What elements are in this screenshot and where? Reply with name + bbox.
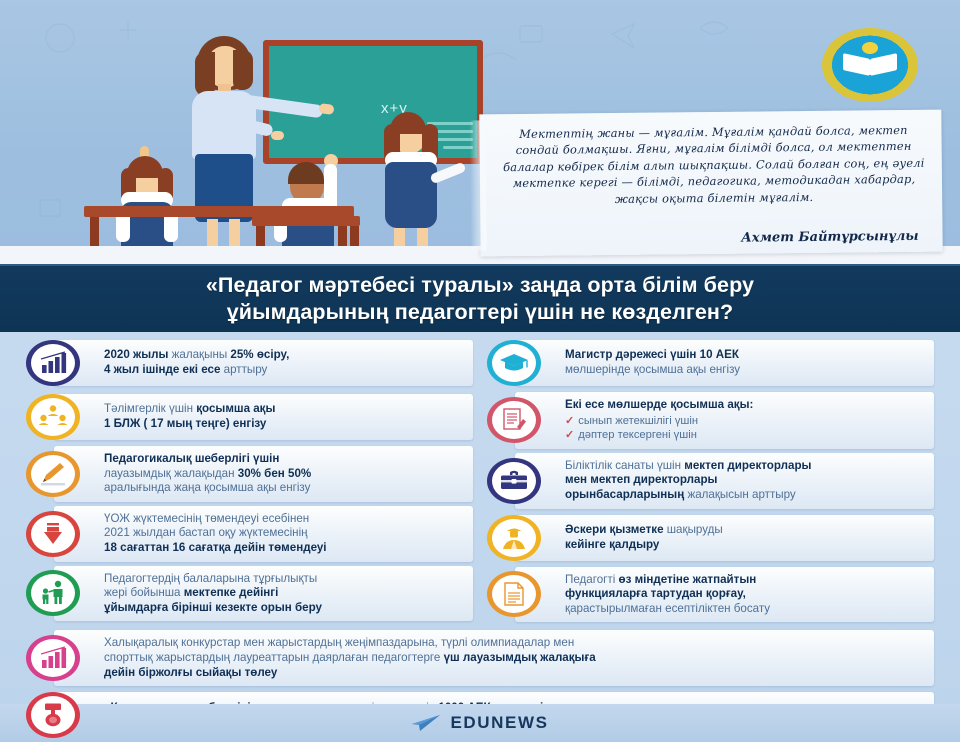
quote-author: Ахмет Байтұрсынұлы <box>741 229 918 246</box>
card-text-strong: 18 сағаттан 16 сағатқа дейін төмендеуі <box>104 541 327 554</box>
quote-text: Мектептің жаны — мұғалім. Мұғалім қандай… <box>501 122 926 208</box>
benefits-content: 2020 жылы жалақыны 25% өсіру,4 жыл ішінд… <box>0 332 960 704</box>
card-text-strong: кейінге қалдыру <box>565 538 659 551</box>
benefit-text-line: лауазымдық жалақыдан 30% бен 50% <box>104 467 311 482</box>
benefit-text-line: 1 БЛЖ ( 17 мың теңге) енгізу <box>104 417 275 432</box>
benefit-text-line: Магистр дәрежесі үшін 10 АЕК <box>565 348 740 363</box>
benefit-text: Біліктілік санаты үшін мектеп директорла… <box>565 459 811 503</box>
card-text-strong: Педагогикалық шеберлігі үшін <box>104 452 279 465</box>
card-text-normal: шақыруды <box>667 523 723 536</box>
benefit-text: 2020 жылы жалақыны 25% өсіру,4 жыл ішінд… <box>104 348 289 377</box>
benefit-text: ҮОЖ жүктемесінің төмендеуі есебінен2021 … <box>104 512 327 556</box>
people-group-icon <box>38 404 68 430</box>
benefit-icon-badge <box>487 340 541 386</box>
card-text-normal: арттыру <box>224 363 268 376</box>
benefit-text-line: Тәлімгерлік үшін қосымша ақы <box>104 402 275 417</box>
pencil-icon <box>38 461 68 487</box>
card-text-normal: спорттық жарыстардың лауреаттарын даярла… <box>104 651 444 664</box>
card-text-normal: аралығында жаңа қосымша ақы енгізу <box>104 481 310 494</box>
card-text-strong: мектеп директорлары <box>684 459 811 472</box>
benefit-text-plate: 2020 жылы жалақыны 25% өсіру,4 жыл ішінд… <box>54 340 473 386</box>
card-text-normal: ҮОЖ жүктемесінің төмендеуі есебінен <box>104 512 309 525</box>
card-text-strong: функцияларға тартудан қорғау, <box>565 587 746 600</box>
benefit-text-line: жері бойынша мектепке дейінгі <box>104 586 322 601</box>
benefit-text-line: 2020 жылы жалақыны 25% өсіру, <box>104 348 289 363</box>
card-text-strong: орынбасарларының <box>565 488 687 501</box>
benefit-text: Педагогтердің балаларына тұрғылықтыжері … <box>104 572 322 616</box>
card-text-strong: Магистр дәрежесі үшін 10 АЕК <box>565 348 739 361</box>
benefit-card[interactable]: Халықаралық конкурстар мен жарыстардың ж… <box>26 630 934 686</box>
card-text-strong: мен мектеп директорлары <box>565 473 717 486</box>
paper-plane-icon <box>411 713 441 733</box>
benefit-text-plate: Педагогикалық шеберлігі үшінлауазымдық ж… <box>54 446 473 502</box>
card-text-normal: 2021 жылдан бастап оқу жүктемесінің <box>104 526 308 539</box>
benefit-card[interactable]: Тәлімгерлік үшін қосымша ақы1 БЛЖ ( 17 м… <box>26 392 473 442</box>
brand-name: EDUNEWS <box>450 713 548 733</box>
benefit-card[interactable]: Педагогтердің балаларына тұрғылықтыжері … <box>26 566 473 622</box>
benefit-text-plate: Әскери қызметке шақырудыкейінге қалдыру <box>515 515 934 561</box>
benefit-text: Халықаралық конкурстар мен жарыстардың ж… <box>104 636 596 680</box>
benefit-text-line: орынбасарларының жалақысын арттыру <box>565 488 811 503</box>
card-text-normal: жері бойынша <box>104 586 184 599</box>
card-check-label: сынып жетекшілігі үшін <box>578 414 698 429</box>
benefit-text: Педагогті өз міндетіне жатпайтынфункциял… <box>565 573 770 617</box>
benefit-text-plate: Педагогті өз міндетіне жатпайтынфункциял… <box>515 567 934 623</box>
card-text-strong: Әскери қызметке <box>565 523 667 536</box>
card-text-normal: жалақысын арттыру <box>687 488 795 501</box>
poster-title-line-2: ұйымдарының педагогтері үшін не көзделге… <box>227 299 734 326</box>
card-text-strong: мектепке дейінгі <box>184 586 279 599</box>
check-icon: ✓ <box>565 414 574 429</box>
benefit-card[interactable]: Екі есе мөлшерде қосымша ақы: ✓сынып жет… <box>487 392 934 449</box>
benefit-text-line: Педагогті өз міндетіне жатпайтын <box>565 573 770 588</box>
card-text-normal: лауазымдық жалақыдан <box>104 467 238 480</box>
benefit-text-plate: ҮОЖ жүктемесінің төмендеуі есебінен2021 … <box>54 506 473 562</box>
poster-title-line-1: «Педагог мәртебесі туралы» заңда орта бі… <box>206 272 754 299</box>
quote-card: Мектептің жаны — мұғалім. Мұғалім қандай… <box>479 110 942 257</box>
footer-bar: EDUNEWS <box>0 704 960 742</box>
benefit-text-plate: Педагогтердің балаларына тұрғылықтыжері … <box>54 566 473 622</box>
benefit-card[interactable]: 2020 жылы жалақыны 25% өсіру,4 жыл ішінд… <box>26 338 473 388</box>
benefit-text-line: функцияларға тартудан қорғау, <box>565 587 770 602</box>
benefit-text-plate: Екі есе мөлшерде қосымша ақы: ✓сынып жет… <box>515 392 934 449</box>
benefit-card[interactable]: Әскери қызметке шақырудыкейінге қалдыру <box>487 513 934 563</box>
card-text-strong: өз міндетіне жатпайтын <box>619 573 757 586</box>
medal-icon <box>38 702 68 728</box>
benefit-text: Педагогикалық шеберлігі үшінлауазымдық ж… <box>104 452 311 496</box>
benefit-text-line: Әскери қызметке шақыруды <box>565 523 723 538</box>
card-text-normal: Педагогтердің балаларына тұрғылықты <box>104 572 317 585</box>
infographic-poster: x+y <box>0 0 960 742</box>
benefit-text-line: дейін біржолғы сыйақы төлеу <box>104 666 596 681</box>
benefit-text: Екі есе мөлшерде қосымша ақы: ✓сынып жет… <box>565 398 753 443</box>
benefit-text-line: 2021 жылдан бастап оқу жүктемесінің <box>104 526 327 541</box>
benefit-icon-badge <box>26 340 80 386</box>
card-text-strong: Екі есе мөлшерде қосымша ақы: <box>565 398 753 411</box>
document-pen-icon <box>499 407 529 433</box>
bar-chart-icon <box>38 645 68 671</box>
card-text-strong: 25% өсіру, <box>230 348 289 361</box>
card-check-item: ✓дәптер тексергені үшін <box>565 428 753 443</box>
benefit-check-list: ✓сынып жетекшілігі үшін✓дәптер тексерген… <box>565 414 753 443</box>
desk-middle <box>252 216 360 226</box>
check-icon: ✓ <box>565 428 574 443</box>
card-text-strong: дейін біржолғы сыйақы төлеу <box>104 666 277 679</box>
card-check-item: ✓сынып жетекшілігі үшін <box>565 414 753 429</box>
benefit-text-line: ұйымдарға бірінші кезекте орын беру <box>104 601 322 616</box>
benefit-text-line: Халықаралық конкурстар мен жарыстардың ж… <box>104 636 596 651</box>
card-text-normal: жалақыны <box>172 348 231 361</box>
benefit-text-line: ҮОЖ жүктемесінің төмендеуі есебінен <box>104 512 327 527</box>
parent-child-icon <box>38 580 68 606</box>
benefit-card[interactable]: Біліктілік санаты үшін мектеп директорла… <box>487 453 934 509</box>
card-text-strong: 2020 жылы <box>104 348 172 361</box>
down-arrow-icon <box>38 521 68 547</box>
briefcase-icon <box>499 468 529 494</box>
benefits-columns: 2020 жылы жалақыны 25% өсіру,4 жыл ішінд… <box>26 338 934 626</box>
benefit-text-plate: Магистр дәрежесі үшін 10 АЕКмөлшерінде қ… <box>515 340 934 386</box>
benefit-text-line: қарастырылмаған есептіліктен босату <box>565 602 770 617</box>
bar-chart-icon <box>38 350 68 376</box>
benefit-text-line: мөлшерінде қосымша ақы енгізу <box>565 363 740 378</box>
benefit-text-line: Педагогтердің балаларына тұрғылықты <box>104 572 322 587</box>
card-text-normal: мөлшерінде қосымша ақы енгізу <box>565 363 740 376</box>
benefit-card[interactable]: Педагогикалық шеберлігі үшінлауазымдық ж… <box>26 446 473 502</box>
student-at-board <box>378 112 444 264</box>
benefit-text-plate: Тәлімгерлік үшін қосымша ақы1 БЛЖ ( 17 м… <box>54 394 473 440</box>
left-benefits-column: 2020 жылы жалақыны 25% өсіру,4 жыл ішінд… <box>26 338 473 626</box>
card-text-normal: Педагогті <box>565 573 619 586</box>
benefit-text: Тәлімгерлік үшін қосымша ақы1 БЛЖ ( 17 м… <box>104 402 275 431</box>
card-check-label: дәптер тексергені үшін <box>578 428 697 443</box>
benefit-text-line: Педагогикалық шеберлігі үшін <box>104 452 311 467</box>
benefit-text-line: 4 жыл ішінде екі есе арттыру <box>104 363 289 378</box>
benefit-icon-badge <box>26 692 80 738</box>
benefit-icon-badge <box>26 511 80 557</box>
benefit-card[interactable]: Магистр дәрежесі үшін 10 АЕКмөлшерінде қ… <box>487 338 934 388</box>
benefit-card[interactable]: Педагогті өз міндетіне жатпайтынфункциял… <box>487 567 934 623</box>
card-text-strong: үш лауазымдық жалақыға <box>444 651 596 664</box>
benefit-icon-badge <box>26 394 80 440</box>
graduation-cap-icon <box>499 350 529 376</box>
soldier-icon <box>499 525 529 551</box>
card-text-strong: ұйымдарға бірінші кезекте орын беру <box>104 601 322 614</box>
benefit-icon-badge <box>487 515 541 561</box>
card-text-strong: 30% бен 50% <box>238 467 311 480</box>
benefit-icon-badge <box>26 635 80 681</box>
card-text-strong: қосымша ақы <box>196 402 275 415</box>
card-text-normal: Біліктілік санаты үшін <box>565 459 684 472</box>
benefit-text-line: мен мектеп директорлары <box>565 473 811 488</box>
benefit-text-line: 18 сағаттан 16 сағатқа дейін төмендеуі <box>104 541 327 556</box>
benefit-text: Магистр дәрежесі үшін 10 АЕКмөлшерінде қ… <box>565 348 740 377</box>
document-icon <box>499 581 529 607</box>
benefit-card[interactable]: ҮОЖ жүктемесінің төмендеуі есебінен2021 … <box>26 506 473 562</box>
benefit-text: Әскери қызметке шақырудыкейінге қалдыру <box>565 523 723 552</box>
benefit-text-line: Біліктілік санаты үшін мектеп директорла… <box>565 459 811 474</box>
card-text-normal: Тәлімгерлік үшін <box>104 402 196 415</box>
card-text-strong: 1 БЛЖ ( 17 мың теңге) енгізу <box>104 417 266 430</box>
benefit-text-line: кейінге қалдыру <box>565 538 723 553</box>
benefit-text-line: аралығында жаңа қосымша ақы енгізу <box>104 481 311 496</box>
card-text-normal: қарастырылмаған есептіліктен босату <box>565 602 770 615</box>
benefit-icon-badge <box>26 451 80 497</box>
poster-title-bar: «Педагог мәртебесі туралы» заңда орта бі… <box>0 264 960 332</box>
benefit-text-plate: Біліктілік санаты үшін мектеп директорла… <box>515 453 934 509</box>
benefit-text-line: Екі есе мөлшерде қосымша ақы: <box>565 398 753 413</box>
ministry-emblem-icon <box>822 28 918 102</box>
benefit-icon-badge <box>487 458 541 504</box>
benefit-text-line: спорттық жарыстардың лауреаттарын даярла… <box>104 651 596 666</box>
card-text-normal: Халықаралық конкурстар мен жарыстардың ж… <box>104 636 574 649</box>
benefit-text-plate: Халықаралық конкурстар мен жарыстардың ж… <box>54 630 934 686</box>
card-text-strong: 4 жыл ішінде екі есе <box>104 363 224 376</box>
right-benefits-column: Магистр дәрежесі үшін 10 АЕКмөлшерінде қ… <box>487 338 934 626</box>
hero-illustration: x+y <box>0 0 960 264</box>
